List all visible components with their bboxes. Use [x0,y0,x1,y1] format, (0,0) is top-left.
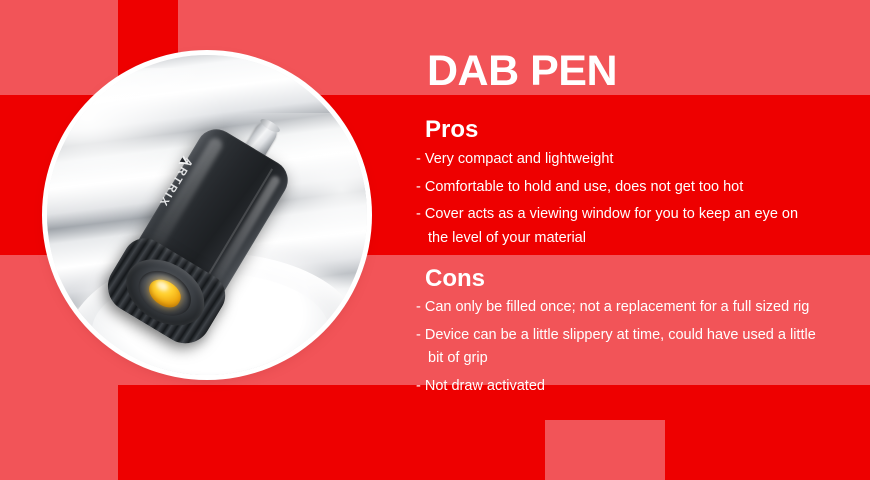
list-item: - Not draw activated [416,379,846,394]
list-item-text: Very compact and lightweight [425,151,614,167]
list-item-text: Cover acts as a viewing window for you t… [425,206,798,222]
list-item: - Cover acts as a viewing window for you… [416,207,846,245]
list-item-bullet: - [416,151,425,167]
cons-list: - Can only be filled once; not a replace… [416,300,846,406]
list-item-bullet: - [416,179,425,195]
page-title: DAB PEN [427,50,617,93]
list-item-bullet: - [416,206,425,222]
pros-list: - Very compact and lightweight - Comfort… [416,152,846,258]
slide-canvas: ARTRIX DAB PEN Pros - Very compact and l… [0,0,870,480]
list-item-continuation: bit of grip [416,351,846,366]
list-item: - Can only be filled once; not a replace… [416,300,846,315]
text-column: DAB PEN Pros - Very compact and lightwei… [0,0,870,480]
list-item-text: Not draw activated [425,378,545,394]
list-item-continuation: the level of your material [416,231,846,246]
list-item-text: Device can be a little slippery at time,… [425,327,816,343]
list-item-bullet: - [416,378,425,394]
list-item: - Comfortable to hold and use, does not … [416,180,846,195]
list-item: - Very compact and lightweight [416,152,846,167]
list-item-text: Comfortable to hold and use, does not ge… [425,179,743,195]
list-item-bullet: - [416,327,425,343]
list-item: - Device can be a little slippery at tim… [416,328,846,366]
list-item-bullet: - [416,299,425,315]
pros-heading: Pros [425,118,478,142]
cons-heading: Cons [425,267,485,291]
list-item-text: Can only be filled once; not a replaceme… [425,299,809,315]
